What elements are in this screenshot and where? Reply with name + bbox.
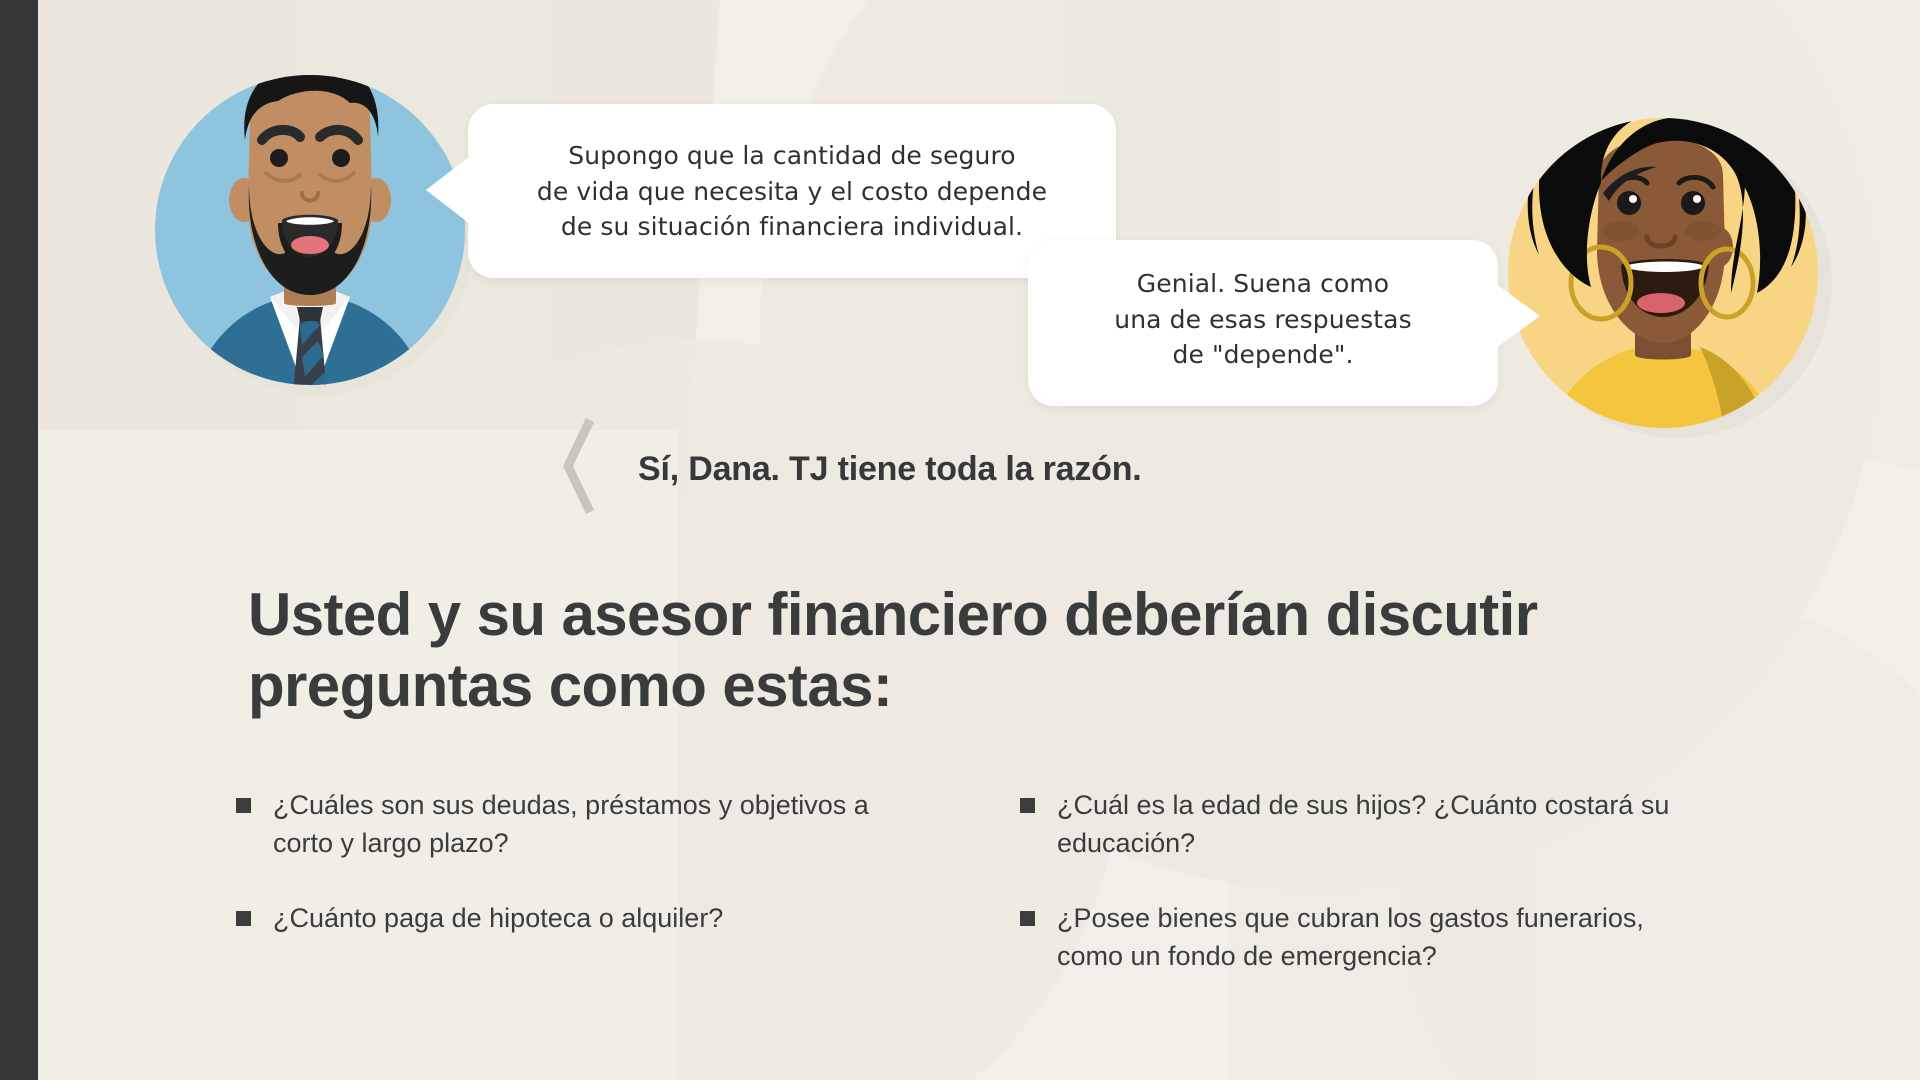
list-item-label: ¿Cuánto paga de hipoteca o alquiler?: [273, 899, 723, 937]
avatar-tj: [150, 45, 470, 405]
speech-bubble-dana-tail: [1496, 284, 1540, 348]
speech-bubble-dana-text: Genial. Suena como una de esas respuesta…: [1028, 240, 1498, 373]
list-item: ¿Cuál es la edad de sus hijos? ¿Cuánto c…: [1020, 786, 1740, 863]
bullet-list-right: ¿Cuál es la edad de sus hijos? ¿Cuánto c…: [1020, 786, 1740, 1011]
list-item: ¿Cuánto paga de hipoteca o alquiler?: [236, 899, 936, 937]
speech-bubble-tj-text: Supongo que la cantidad de seguro de vid…: [468, 104, 1116, 245]
bubble-dana-line-1: Genial. Suena como: [1054, 266, 1472, 302]
avatar-dana-illustration: [1495, 55, 1845, 455]
speech-bubble-dana: Genial. Suena como una de esas respuesta…: [1028, 240, 1498, 406]
bullet-list-left: ¿Cuáles son sus deudas, préstamos y obje…: [236, 786, 936, 973]
list-item: ¿Posee bienes que cubran los gastos fune…: [1020, 899, 1740, 976]
avatar-dana: [1495, 55, 1845, 455]
quote-chevron-icon: [560, 418, 600, 519]
left-accent-bar: [0, 0, 38, 1080]
list-item-label: ¿Posee bienes que cubran los gastos fune…: [1057, 899, 1697, 976]
list-item-label: ¿Cuál es la edad de sus hijos? ¿Cuánto c…: [1057, 786, 1697, 863]
speech-bubble-tj: Supongo que la cantidad de seguro de vid…: [468, 104, 1116, 278]
page-title-line-1: Usted y su asesor financiero deberían di…: [248, 580, 1668, 651]
speech-bubble-tj-tail: [426, 156, 470, 224]
bubble-tj-line-2: de vida que necesita y el costo depende: [498, 174, 1086, 210]
list-item-label: ¿Cuáles son sus deudas, préstamos y obje…: [273, 786, 913, 863]
page-title: Usted y su asesor financiero deberían di…: [248, 580, 1668, 722]
kicker-text: Sí, Dana. TJ tiene toda la razón.: [638, 450, 1142, 489]
bullet-square-icon: [236, 798, 251, 813]
bubble-dana-line-2: una de esas respuestas: [1054, 302, 1472, 338]
bubble-tj-line-1: Supongo que la cantidad de seguro: [498, 138, 1086, 174]
bubble-dana-line-3: de "depende".: [1054, 337, 1472, 373]
bullet-square-icon: [1020, 798, 1035, 813]
bullet-square-icon: [236, 911, 251, 926]
quote-chevron-svg: [560, 418, 600, 514]
page-title-line-2: preguntas como estas:: [248, 651, 1668, 722]
list-item: ¿Cuáles son sus deudas, préstamos y obje…: [236, 786, 936, 863]
avatar-tj-illustration: [150, 45, 470, 405]
bullet-square-icon: [1020, 911, 1035, 926]
slide-canvas: Supongo que la cantidad de seguro de vid…: [0, 0, 1920, 1080]
bubble-tj-line-3: de su situación financiera individual.: [498, 209, 1086, 245]
